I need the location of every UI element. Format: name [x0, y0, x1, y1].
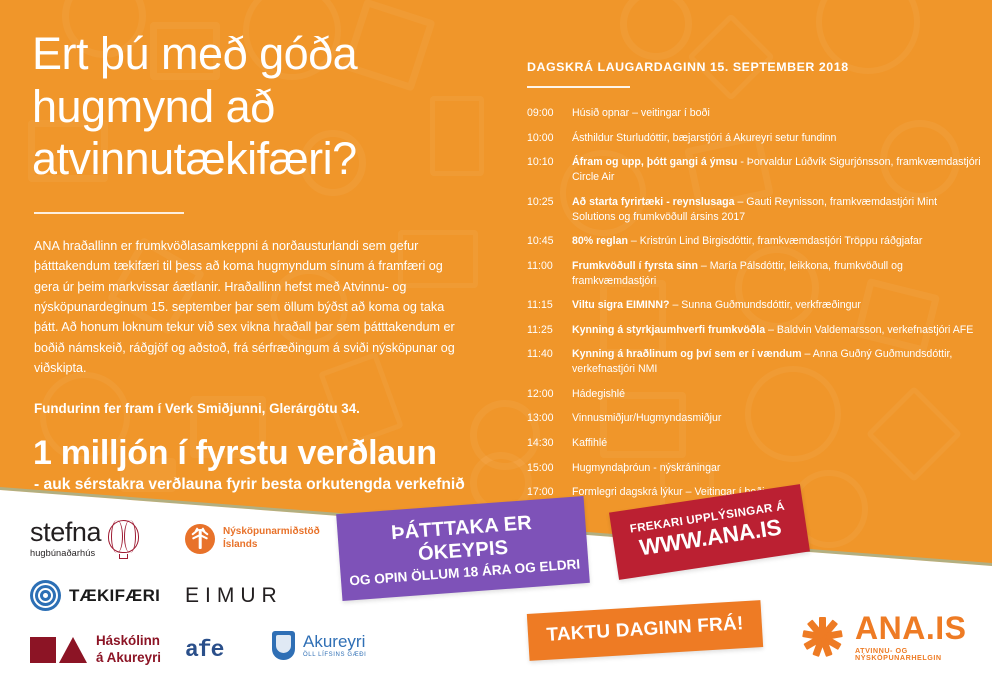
- schedule-description: 80% reglan – Kristrún Lind Birgisdóttir,…: [567, 234, 982, 249]
- schedule-description: Vinnusmiðjur/Hugmyndasmiðjur: [567, 411, 982, 426]
- schedule-description: Frumkvöðull í fyrsta sinn – María Pálsdó…: [567, 259, 982, 289]
- schedule-time: 15:00: [527, 461, 567, 476]
- schedule-title-bold: Kynning á styrkjaumhverfi frumkvöðla: [572, 324, 765, 336]
- schedule-description: Hugmyndaþróun - nýskráningar: [567, 461, 982, 476]
- schedule-speaker: Húsið opnar – veitingar í boði: [572, 107, 710, 119]
- schedule-title-bold: Viltu sigra EIMINN?: [572, 299, 670, 311]
- sponsor-row-2: TÆKIFÆRI EIMUR: [30, 580, 450, 611]
- schedule-row: 11:25Kynning á styrkjaumhverfi frumkvöðl…: [527, 323, 982, 338]
- logo-taekifaeri-name: TÆKIFÆRI: [69, 586, 160, 606]
- banner-save-line1: TAKTU DAGINN FRÁ!: [534, 612, 757, 647]
- brand-name: ANA.IS: [855, 612, 992, 644]
- logo-stefna-name: stefna: [30, 519, 101, 546]
- schedule-divider: [527, 86, 630, 88]
- schedule-row: 11:15Viltu sigra EIMINN? – Sunna Guðmund…: [527, 298, 982, 313]
- schedule-description: Kaffihlé: [567, 436, 982, 451]
- schedule-speaker: – Kristrún Lind Birgisdóttir, framkvæmda…: [628, 235, 922, 247]
- schedule-title-bold: Frumkvöðull í fyrsta sinn: [572, 260, 698, 272]
- logo-eimur: EIMUR: [185, 584, 385, 608]
- schedule-time: 11:40: [527, 347, 567, 377]
- logo-akureyri-sub: ÖLL LÍFSINS GÆÐI: [303, 652, 366, 658]
- prize-subtext: - auk sérstakra verðlauna fyrir besta or…: [34, 476, 502, 494]
- schedule-title-bold: Að starta fyrirtæki - reynslusaga: [572, 196, 735, 208]
- venue-text: Fundurinn fer fram í Verk Smiðjunni, Gle…: [34, 401, 502, 416]
- logo-taekifaeri: TÆKIFÆRI: [30, 580, 185, 611]
- sponsor-row-3: Háskólinn á Akureyri afe: [30, 633, 450, 666]
- shield-icon: [272, 631, 295, 660]
- pinwheel-starburst-icon: [798, 613, 846, 661]
- schedule-speaker: Hádegishlé: [572, 388, 625, 400]
- schedule-description: Að starta fyrirtæki - reynslusaga – Gaut…: [567, 195, 982, 225]
- logo-nmi-line2: Íslands: [223, 539, 320, 552]
- schedule-description: Kynning á styrkjaumhverfi frumkvöðla – B…: [567, 323, 982, 338]
- hot-air-balloon-icon: [108, 520, 139, 558]
- schedule-speaker: – Sunna Guðmundsdóttir, verkfræðingur: [670, 299, 861, 311]
- schedule-time: 10:25: [527, 195, 567, 225]
- schedule-title: DAGSKRÁ LAUGARDAGINN 15. SEPTEMBER 2018: [527, 60, 982, 74]
- schedule-title-bold: Áfram og upp, þótt gangi á ýmsu: [572, 156, 737, 168]
- logo-nmi-line1: Nýsköpunarmiðstöð: [223, 526, 320, 539]
- schedule-description: Kynning á hraðlinum og því sem er í vænd…: [567, 347, 982, 377]
- prize-headline: 1 milljón í fyrstu verðlaun: [33, 436, 502, 472]
- schedule-speaker: – Baldvin Valdemarsson, verkefnastjóri A…: [765, 324, 973, 336]
- schedule-row: 10:25Að starta fyrirtæki - reynslusaga –…: [527, 195, 982, 225]
- logo-haskolinn-line1: Háskólinn: [96, 633, 161, 649]
- intro-paragraph: ANA hraðallinn er frumkvöðlasamkeppni á …: [34, 236, 464, 379]
- schedule-row: 11:40Kynning á hraðlinum og því sem er í…: [527, 347, 982, 377]
- logo-akureyri: Akureyri ÖLL LÍFSINS GÆÐI: [272, 631, 366, 660]
- tree-icon: [185, 524, 215, 554]
- headline-line-3: atvinnutækifæri?: [32, 133, 357, 184]
- headline-divider: [34, 212, 184, 214]
- schedule-time: 11:25: [527, 323, 567, 338]
- schedule-description: Áfram og upp, þótt gangi á ýmsu - Þorval…: [567, 155, 982, 185]
- logo-eimur-name: EIMUR: [185, 584, 283, 608]
- schedule-time: 13:00: [527, 411, 567, 426]
- schedule-time: 11:15: [527, 298, 567, 313]
- schedule-speaker: Kaffihlé: [572, 437, 607, 449]
- schedule-description: Hádegishlé: [567, 387, 982, 402]
- brand-tagline: ATVINNU- OG NÝSKÖPUNARHELGIN: [855, 647, 992, 661]
- logo-afe-name: afe: [185, 637, 223, 663]
- sponsor-logos: stefna hugbúnaðarhús Nýs: [30, 519, 450, 688]
- schedule-time: 10:00: [527, 131, 567, 146]
- schedule-speaker: Ásthildur Sturludóttir, bæjarstjóri á Ak…: [572, 132, 836, 144]
- schedule-speaker: Hugmyndaþróun - nýskráningar: [572, 462, 720, 474]
- schedule-row: 11:00Frumkvöðull í fyrsta sinn – María P…: [527, 259, 982, 289]
- schedule-row: 09:00Húsið opnar – veitingar í boði: [527, 106, 982, 121]
- logo-stefna: stefna hugbúnaðarhús: [30, 519, 185, 558]
- sponsor-row-1: stefna hugbúnaðarhús Nýs: [30, 519, 450, 558]
- schedule-column: DAGSKRÁ LAUGARDAGINN 15. SEPTEMBER 2018 …: [527, 60, 982, 510]
- schedule-description: Viltu sigra EIMINN? – Sunna Guðmundsdótt…: [567, 298, 982, 313]
- target-rings-icon: [30, 580, 61, 611]
- schedule-title-bold: Kynning á hraðlinum og því sem er í vænd…: [572, 348, 802, 360]
- headline-line-1: Ert þú með góða: [32, 28, 357, 79]
- poster-canvas: Ert þú með góða hugmynd að atvinnutækifæ…: [0, 0, 992, 694]
- brand-logo-ana[interactable]: ANA.IS ATVINNU- OG NÝSKÖPUNARHELGIN: [798, 612, 992, 661]
- logo-stefna-sub: hugbúnaðarhús: [30, 549, 101, 558]
- schedule-title-bold: 80% reglan: [572, 235, 628, 247]
- schedule-time: 10:10: [527, 155, 567, 185]
- schedule-time: 12:00: [527, 387, 567, 402]
- schedule-time: 09:00: [527, 106, 567, 121]
- schedule-time: 10:45: [527, 234, 567, 249]
- page-title: Ert þú með góða hugmynd að atvinnutækifæ…: [32, 28, 502, 186]
- schedule-time: 11:00: [527, 259, 567, 289]
- square-triangle-icon: [30, 637, 87, 663]
- logo-akureyri-name: Akureyri: [303, 633, 366, 650]
- schedule-speaker: Vinnusmiðjur/Hugmyndasmiðjur: [572, 412, 721, 424]
- hero-column: Ert þú með góða hugmynd að atvinnutækifæ…: [32, 28, 502, 494]
- schedule-description: Húsið opnar – veitingar í boði: [567, 106, 982, 121]
- logo-haskolinn: Háskólinn á Akureyri: [30, 633, 185, 666]
- schedule-time: 14:30: [527, 436, 567, 451]
- schedule-description: Ásthildur Sturludóttir, bæjarstjóri á Ak…: [567, 131, 982, 146]
- headline-line-2: hugmynd að: [32, 81, 275, 132]
- logo-haskolinn-line2: á Akureyri: [96, 650, 161, 666]
- logo-nyskopunarmidstod: Nýsköpunarmiðstöð Íslands: [185, 524, 385, 554]
- schedule-row: 15:00Hugmyndaþróun - nýskráningar: [527, 461, 982, 476]
- schedule-row: 12:00Hádegishlé: [527, 387, 982, 402]
- schedule-row: 10:10Áfram og upp, þótt gangi á ýmsu - Þ…: [527, 155, 982, 185]
- schedule-row: 10:00Ásthildur Sturludóttir, bæjarstjóri…: [527, 131, 982, 146]
- schedule-row: 14:30Kaffihlé: [527, 436, 982, 451]
- schedule-list: 09:00Húsið opnar – veitingar í boði10:00…: [527, 106, 982, 500]
- schedule-row: 10:4580% reglan – Kristrún Lind Birgisdó…: [527, 234, 982, 249]
- schedule-row: 13:00Vinnusmiðjur/Hugmyndasmiðjur: [527, 411, 982, 426]
